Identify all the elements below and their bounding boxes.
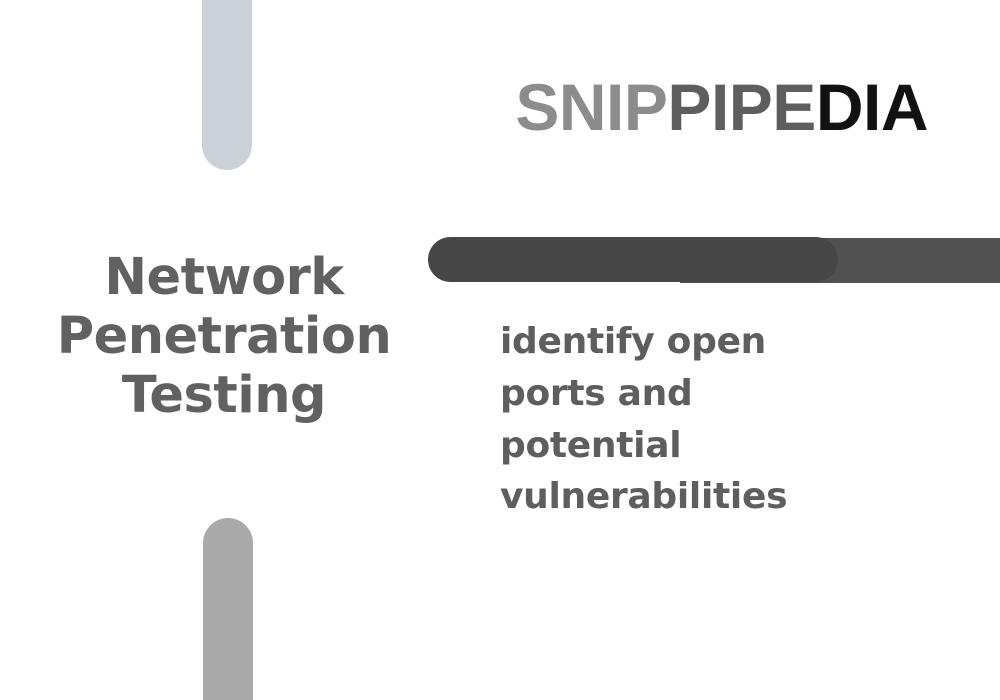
- brand-logo: SNIPPIPEDIA: [515, 74, 928, 140]
- page-title-line-2: Penetration: [28, 307, 420, 366]
- body-description-line-3: potential: [500, 420, 920, 472]
- body-description-line-2: ports and: [500, 368, 920, 420]
- body-description: identify open ports and potential vulner…: [500, 316, 920, 523]
- slide-canvas: SNIPPIPEDIA Network Penetration Testing …: [0, 0, 1000, 700]
- brand-logo-segment-3: DIA: [816, 70, 928, 144]
- page-title-line-3: Testing: [28, 366, 420, 425]
- brand-logo-segment-1: SNIP: [515, 70, 667, 144]
- decorative-vertical-bar-top-left: [202, 0, 252, 170]
- brand-logo-segment-2: PIPE: [667, 70, 815, 144]
- body-description-line-4: vulnerabilities: [500, 471, 920, 523]
- page-title: Network Penetration Testing: [28, 248, 420, 425]
- decorative-vertical-bar-bottom-left: [203, 518, 253, 700]
- decorative-horizontal-pill-front: [428, 237, 838, 282]
- page-title-line-1: Network: [28, 248, 420, 307]
- body-description-line-1: identify open: [500, 316, 920, 368]
